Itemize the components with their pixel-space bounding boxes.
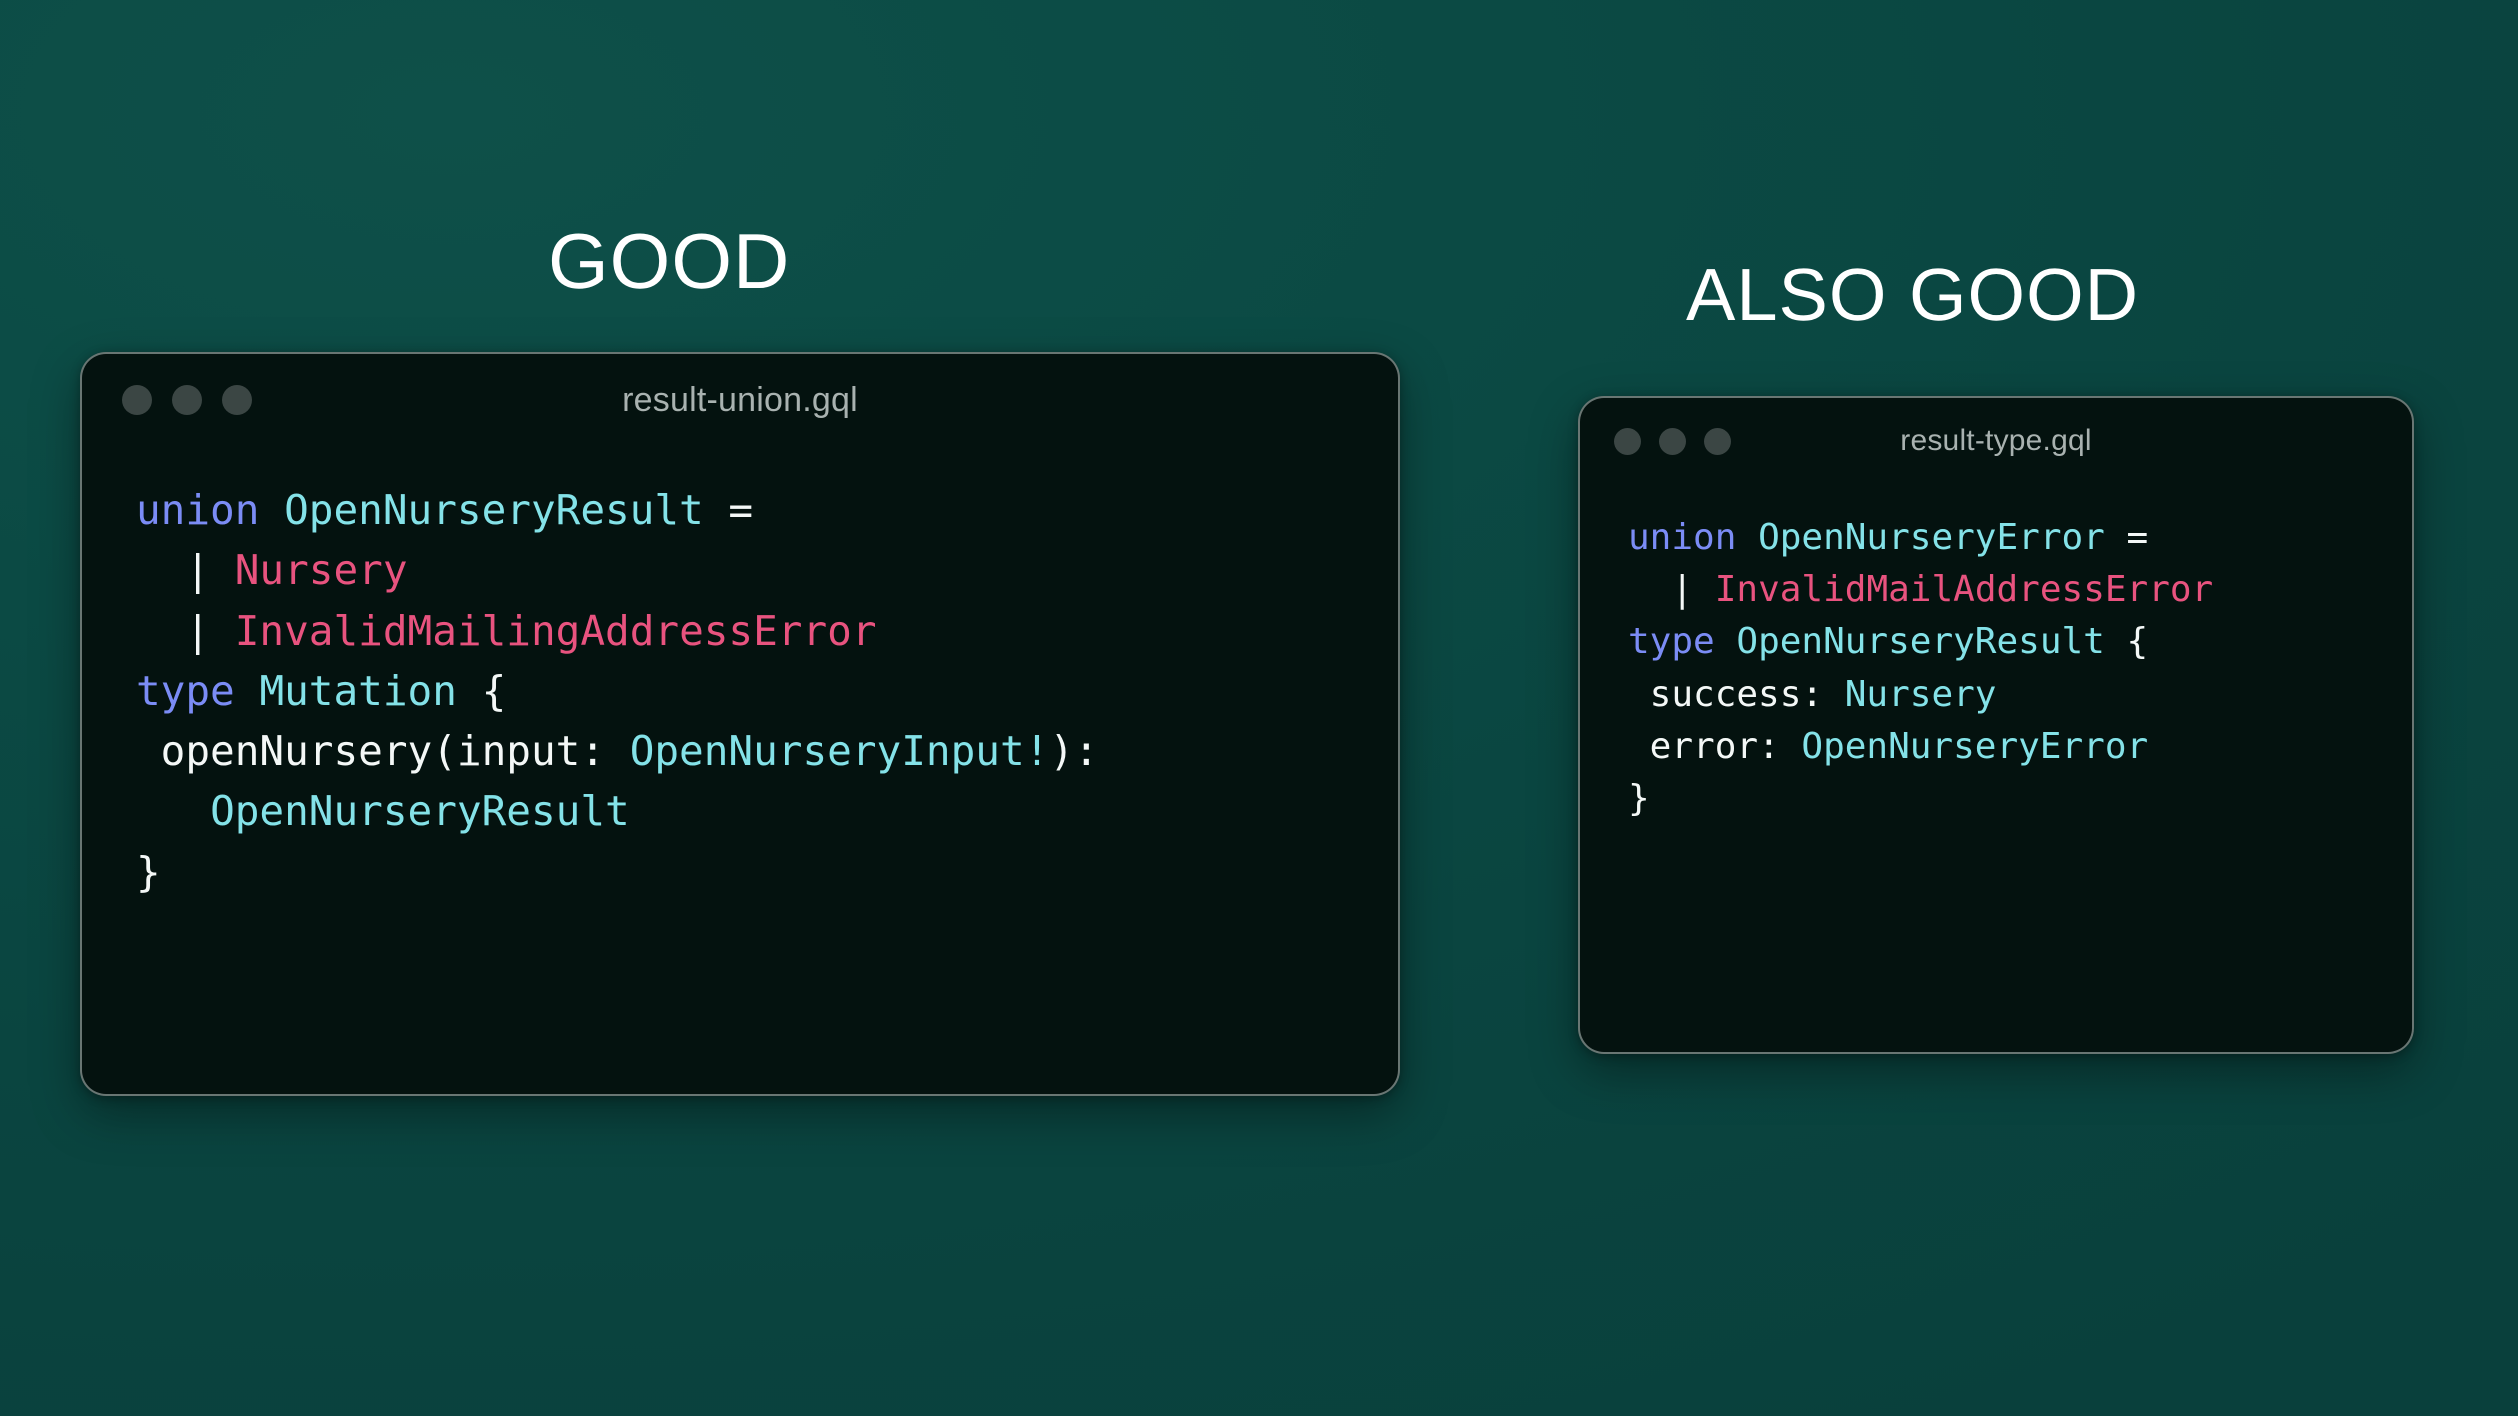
code-token: type bbox=[136, 667, 235, 715]
code-token: OpenNurseryResult bbox=[210, 787, 630, 835]
code-window-good: result-union.gql union OpenNurseryResult… bbox=[80, 352, 1400, 1096]
code-token: = bbox=[704, 486, 753, 534]
code-token bbox=[210, 607, 235, 655]
code-token: ): bbox=[1049, 727, 1098, 775]
code-token: OpenNurseryError bbox=[1801, 726, 2148, 767]
slide-canvas: GOOD result-union.gql union OpenNurseryR… bbox=[0, 0, 2518, 1416]
code-token bbox=[136, 787, 210, 835]
window-controls bbox=[1614, 428, 1731, 455]
window-dot-minimize-icon[interactable] bbox=[1659, 428, 1686, 455]
code-block-also-good: union OpenNurseryError = | InvalidMailAd… bbox=[1580, 484, 2412, 825]
code-token bbox=[235, 667, 260, 715]
code-window-also-good: result-type.gql union OpenNurseryError =… bbox=[1578, 396, 2414, 1054]
code-block-good: union OpenNurseryResult = | Nursery | In… bbox=[82, 446, 1398, 902]
code-token: type bbox=[1628, 621, 1715, 662]
window-dot-close-icon[interactable] bbox=[122, 385, 152, 415]
code-token bbox=[1715, 621, 1737, 662]
code-token: | bbox=[185, 607, 210, 655]
code-token: OpenNurseryResult bbox=[284, 486, 704, 534]
window-filename: result-union.gql bbox=[82, 381, 1398, 420]
code-token: error: bbox=[1628, 726, 1801, 767]
code-token: OpenNurseryResult bbox=[1736, 621, 2104, 662]
code-token: = bbox=[2105, 517, 2148, 558]
code-token: { bbox=[2105, 621, 2148, 662]
code-token bbox=[1736, 517, 1758, 558]
code-token: Nursery bbox=[1845, 674, 1997, 715]
code-token: openNursery(input: bbox=[136, 727, 630, 775]
code-token: OpenNurseryInput! bbox=[630, 727, 1050, 775]
code-token bbox=[136, 607, 185, 655]
code-token: } bbox=[1628, 778, 1650, 819]
code-token bbox=[259, 486, 284, 534]
code-token bbox=[210, 546, 235, 594]
panel-heading-also-good: ALSO GOOD bbox=[1686, 258, 2139, 332]
code-token: InvalidMailAddressError bbox=[1715, 569, 2214, 610]
code-token: union bbox=[1628, 517, 1736, 558]
code-token: Nursery bbox=[235, 546, 408, 594]
code-token: union bbox=[136, 486, 259, 534]
code-token bbox=[136, 546, 185, 594]
code-token bbox=[1628, 569, 1671, 610]
code-token: success: bbox=[1628, 674, 1845, 715]
code-token: | bbox=[1671, 569, 1693, 610]
code-token: OpenNurseryError bbox=[1758, 517, 2105, 558]
window-controls bbox=[122, 385, 252, 415]
window-titlebar: result-type.gql bbox=[1580, 398, 2412, 484]
panel-heading-good: GOOD bbox=[548, 222, 790, 300]
window-dot-maximize-icon[interactable] bbox=[222, 385, 252, 415]
code-token bbox=[1693, 569, 1715, 610]
window-dot-close-icon[interactable] bbox=[1614, 428, 1641, 455]
window-dot-minimize-icon[interactable] bbox=[172, 385, 202, 415]
code-token: { bbox=[457, 667, 506, 715]
code-token: | bbox=[185, 546, 210, 594]
code-token: Mutation bbox=[259, 667, 456, 715]
window-titlebar: result-union.gql bbox=[82, 354, 1398, 446]
code-token: InvalidMailingAddressError bbox=[235, 607, 877, 655]
code-token: } bbox=[136, 848, 161, 896]
window-dot-maximize-icon[interactable] bbox=[1704, 428, 1731, 455]
